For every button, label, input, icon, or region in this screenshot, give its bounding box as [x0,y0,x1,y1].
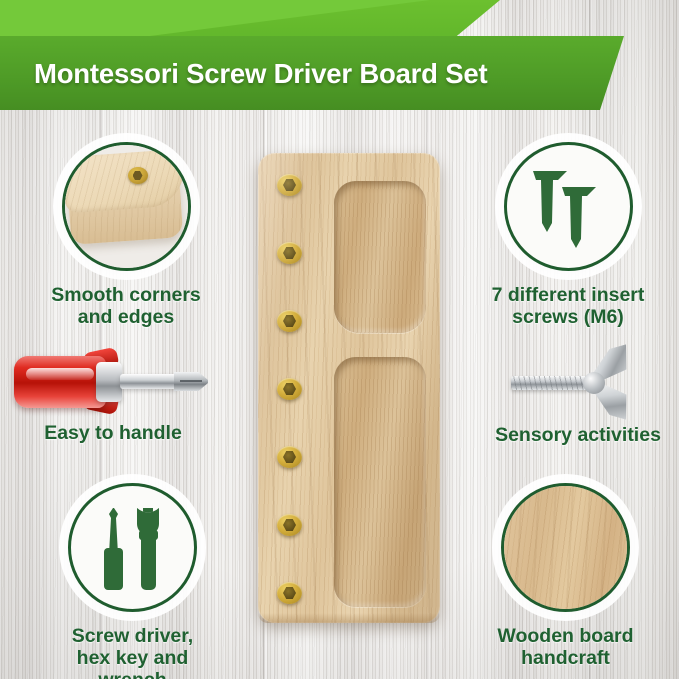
feature-label-smooth-corners: Smooth corners and edges [46,284,206,328]
page-title: Montessori Screw Driver Board Set [34,48,614,100]
insert-screws-badge-circle [504,142,633,271]
feature-sensory-activities: Sensory activities [483,348,673,446]
wooden-board-badge-circle [501,483,630,612]
brass-insert-secondary-icon [70,151,85,162]
feature-label-tools-included: Screw driver, hex key and wrench [40,625,225,679]
red-screwdriver-icon [8,348,213,416]
board-bottom-edge [258,613,440,623]
feature-label-wooden-board: Wooden board handcraft [473,625,658,669]
wing-bolt-icon [505,348,635,418]
infographic-canvas: Montessori Screw Driver Board Set Smooth… [0,0,679,679]
wood-grain-disc-icon [504,486,627,609]
wooden-block-corner-icon [65,145,188,268]
feature-label-sensory-activities: Sensory activities [483,424,673,446]
product-screw-driver-board[interactable] [258,153,440,623]
feature-smooth-corners: Smooth corners and edges [46,142,206,328]
feature-easy-to-handle: Easy to handle [8,348,218,444]
feature-label-insert-screws: 7 different insert screws (M6) [478,284,658,328]
tools-badge-circle [68,483,197,612]
two-nails-icon [507,145,630,268]
board-lighting-overlay [258,153,440,623]
smooth-corners-badge-circle [62,142,191,271]
feature-tools-included: Screw driver, hex key and wrench [40,483,225,679]
brass-insert-icon [128,167,148,184]
feature-wooden-board: Wooden board handcraft [473,483,658,669]
feature-label-easy-to-handle: Easy to handle [8,422,218,444]
feature-insert-screws: 7 different insert screws (M6) [478,142,658,328]
screwdriver-and-wrench-icon [71,486,194,609]
